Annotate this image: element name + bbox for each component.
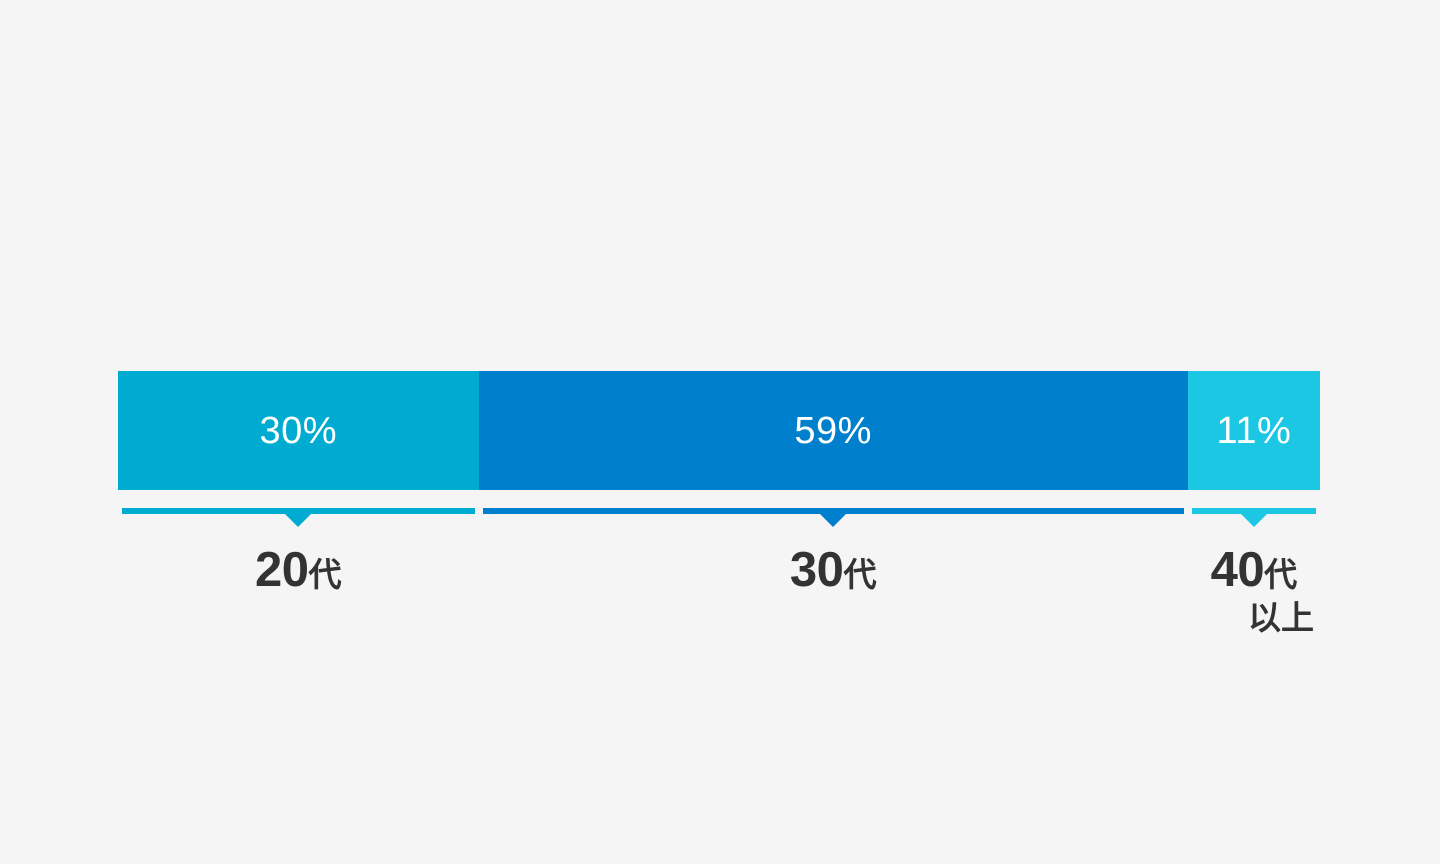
category-number-40s: 40 [1211,542,1265,599]
stacked-bar-track: 30% 59% 11% [118,371,1320,490]
bar-value-20s: 30% [260,412,338,450]
arrow-down-icon-40s-plus [1241,514,1267,527]
category-suffix-40s: 以上 [1248,599,1314,637]
category-label-40s-plus: 40 代 以上 [1188,542,1320,637]
bar-segment-30s[interactable]: 59% [479,371,1188,490]
category-kanji-40s: 代 [1264,556,1297,594]
arrow-down-icon-20s [285,514,311,527]
category-label-row: 20 代 30 代 40 代 以上 [118,542,1320,637]
category-kanji-20s: 代 [309,556,342,594]
category-label-20s: 20 代 [118,542,479,637]
bar-segment-40s-plus[interactable]: 11% [1188,371,1320,490]
pointer-cell-30s [479,508,1188,530]
stacked-bar-chart: 30% 59% 11% 20 代 [118,371,1320,637]
pointer-cell-40s-plus [1188,508,1320,530]
bar-value-40s-plus: 11% [1217,412,1292,450]
category-label-30s: 30 代 [479,542,1188,637]
pointer-cell-20s [118,508,479,530]
arrow-down-icon-30s [820,514,846,527]
category-number-20s: 20 [255,542,309,599]
category-label-20s-line1: 20 代 [255,542,342,599]
bar-value-30s: 59% [794,412,872,450]
category-label-40s-plus-line1: 40 代 [1211,542,1298,599]
category-label-30s-line1: 30 代 [790,542,877,599]
category-kanji-30s: 代 [843,556,876,594]
category-number-30s: 30 [790,542,844,599]
pointer-row [118,508,1320,530]
bar-segment-20s[interactable]: 30% [118,371,479,490]
category-label-40s-plus-line2: 以上 [1188,599,1320,637]
